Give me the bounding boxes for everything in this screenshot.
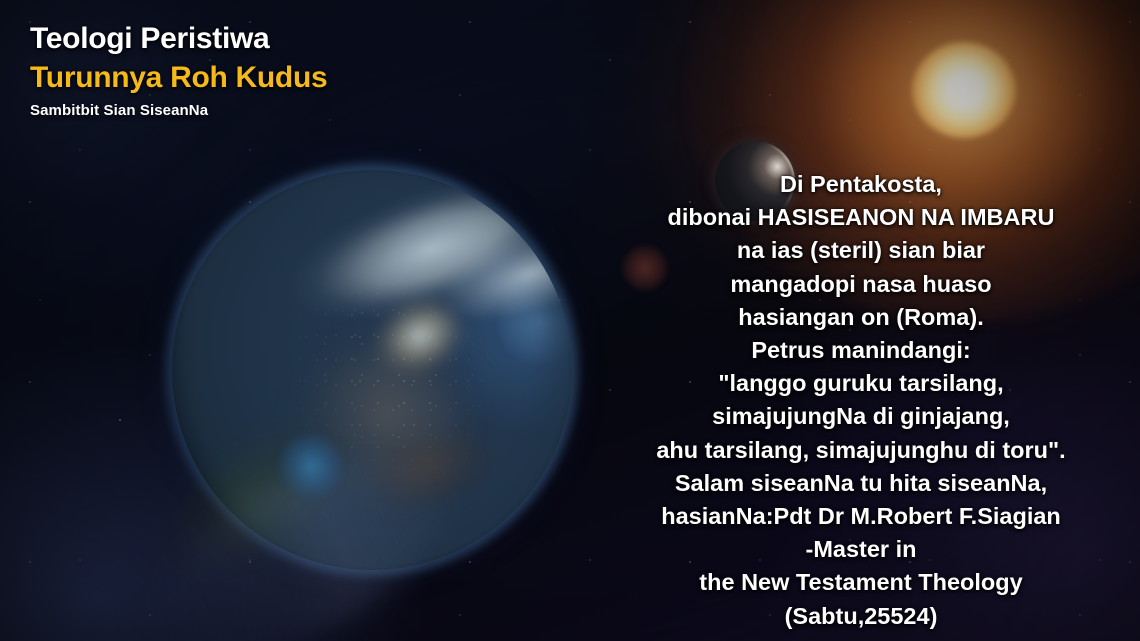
body-line: (Sabtu,25524) (626, 600, 1096, 633)
body-line: mangadopi nasa huaso (626, 268, 1096, 301)
body-line: na ias (steril) sian biar (626, 234, 1096, 267)
page-title: Teologi Peristiwa (30, 20, 650, 58)
body-line: dibonai HASISEANON NA IMBARU (626, 201, 1096, 234)
body-line: hasianNa:Pdt Dr M.Robert F.Siagian (626, 500, 1096, 533)
body-line: "langgo guruku tarsilang, (626, 367, 1096, 400)
body-line: hasiangan on (Roma). (626, 301, 1096, 334)
title-block: Teologi Peristiwa Turunnya Roh Kudus Sam… (30, 20, 650, 124)
body-line: ahu tarsilang, simajujunghu di toru". (626, 434, 1096, 467)
body-line: -Master in (626, 533, 1096, 566)
body-line: Salam siseanNa tu hita siseanNa, (626, 467, 1096, 500)
body-line: Petrus manindangi: (626, 334, 1096, 367)
body-line: the New Testament Theology (626, 566, 1096, 599)
body-line: simajujungNa di ginjajang, (626, 400, 1096, 433)
body-text-block: Di Pentakosta, dibonai HASISEANON NA IMB… (626, 168, 1096, 633)
earth-atmosphere-glow (166, 164, 578, 576)
slide-canvas: Teologi Peristiwa Turunnya Roh Kudus Sam… (0, 0, 1140, 641)
body-line: Di Pentakosta, (626, 168, 1096, 201)
page-tagline: Sambitbit Sian SiseanNa (30, 98, 650, 124)
page-subtitle: Turunnya Roh Kudus (30, 58, 650, 98)
